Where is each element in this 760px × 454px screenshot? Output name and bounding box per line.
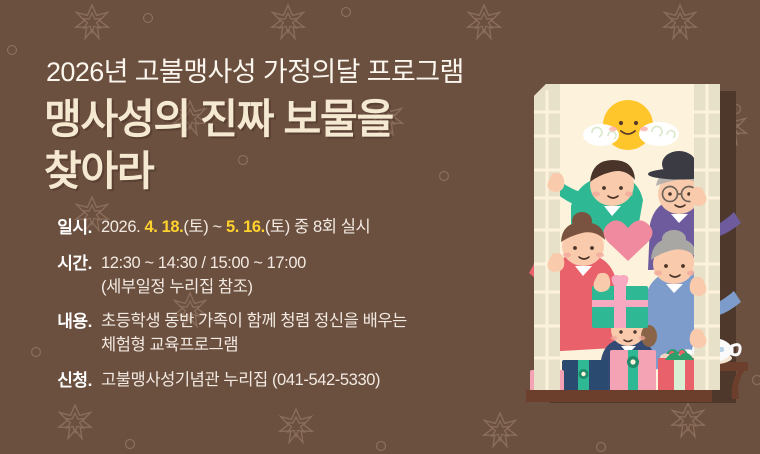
content-line-1: 초등학생 동반 가족이 함께 청렴 정신을 배우는: [101, 310, 407, 334]
poster-info-list: 일시. 2026. 4. 18.(토) ~ 5. 16.(토) 중 8회 실시 …: [0, 216, 516, 405]
info-label-application: 신청.: [0, 369, 92, 394]
time-line-2: (세부일정 누리집 참조): [101, 276, 306, 300]
time-line-1: 12:30 ~ 14:30 / 15:00 ~ 17:00: [101, 252, 306, 276]
date-prefix: 2026.: [101, 218, 144, 236]
date-highlight-end: 5. 16.: [226, 218, 265, 236]
info-row-content: 내용. 초등학생 동반 가족이 함께 청렴 정신을 배우는 체험형 교육프로그램: [0, 310, 516, 358]
content-line-2: 체험형 교육프로그램: [101, 334, 407, 358]
date-mid: (토) ~: [183, 218, 226, 236]
headline-line-1: 맹사성의 진짜 보물을: [44, 96, 393, 142]
date-suffix: (토) 중 8회 실시: [265, 218, 370, 236]
info-value-content: 초등학생 동반 가족이 함께 청렴 정신을 배우는 체험형 교육프로그램: [92, 310, 407, 358]
application-line-1: 고불맹사성기념관 누리집 (041-542-5330): [101, 369, 380, 393]
family-illustration: [516, 78, 760, 418]
poster-text-column: 2026년 고불맹사성 가정의달 프로그램 맹사성의 진짜 보물을 찾아라 일시…: [0, 0, 516, 454]
info-row-application: 신청. 고불맹사성기념관 누리집 (041-542-5330): [0, 369, 516, 394]
poster-subtitle: 2026년 고불맹사성 가정의달 프로그램: [46, 50, 464, 89]
info-label-content: 내용.: [0, 310, 92, 335]
headline-line-2: 찾아라: [44, 148, 154, 194]
info-row-time: 시간. 12:30 ~ 14:30 / 15:00 ~ 17:00 (세부일정 …: [0, 252, 516, 300]
info-value-date: 2026. 4. 18.(토) ~ 5. 16.(토) 중 8회 실시: [92, 216, 370, 240]
info-label-date: 일시.: [0, 216, 92, 241]
info-row-date: 일시. 2026. 4. 18.(토) ~ 5. 16.(토) 중 8회 실시: [0, 216, 516, 241]
info-value-time: 12:30 ~ 14:30 / 15:00 ~ 17:00 (세부일정 누리집 …: [92, 252, 306, 300]
date-highlight-start: 4. 18.: [144, 218, 183, 236]
info-label-time: 시간.: [0, 252, 92, 277]
info-value-application: 고불맹사성기념관 누리집 (041-542-5330): [92, 369, 380, 393]
poster-headline: 맹사성의 진짜 보물을 찾아라: [44, 93, 393, 197]
